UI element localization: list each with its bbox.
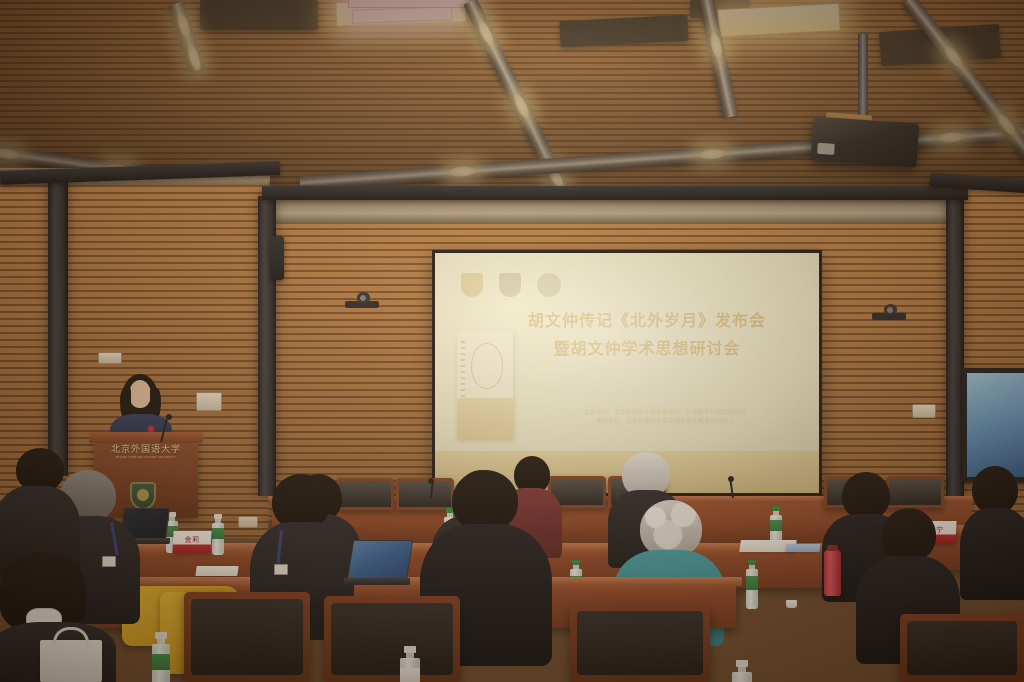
water-bottle[interactable] bbox=[732, 660, 752, 682]
wall-outlet-panel[interactable] bbox=[912, 404, 936, 418]
audience-table-front-top bbox=[92, 577, 742, 586]
attendee-torso bbox=[960, 508, 1024, 600]
attendee-hair bbox=[972, 466, 1018, 514]
slide-title-line2: 暨胡文仲学术思想研讨会 bbox=[491, 337, 803, 361]
ceiling-troffer bbox=[348, 0, 470, 8]
wall-outlet-panel[interactable] bbox=[196, 392, 222, 411]
podium-name-cn: 北京外国语大学 bbox=[102, 442, 190, 455]
attendee-hair bbox=[452, 470, 518, 532]
name-placard-left-text: 金莉 bbox=[173, 531, 212, 545]
foreground-chair[interactable] bbox=[184, 592, 310, 682]
white-tote-bag[interactable] bbox=[40, 640, 102, 682]
paper-cup[interactable] bbox=[786, 600, 797, 608]
paper-stack bbox=[195, 566, 238, 576]
wall-speaker bbox=[270, 236, 284, 280]
laptop-center[interactable] bbox=[344, 540, 410, 590]
wall-outlet-panel[interactable] bbox=[98, 352, 122, 364]
slide-logo-row bbox=[461, 273, 561, 297]
slide-subtitle-line2: 承办单位：北京外国语大学中国外语与教育研究中心 bbox=[545, 417, 785, 426]
badge bbox=[274, 564, 288, 575]
attendee-far-right-suit bbox=[960, 466, 1024, 596]
podium-nameplate: 北京外国语大学 BEIJING FOREIGN STUDIES UNIVERSI… bbox=[102, 442, 190, 459]
podium-name-en: BEIJING FOREIGN STUDIES UNIVERSITY bbox=[102, 456, 190, 459]
wall-camera-left bbox=[345, 292, 379, 310]
attendee-hair bbox=[882, 508, 936, 562]
foreground-chair[interactable] bbox=[324, 596, 460, 682]
book-spine-text bbox=[461, 341, 465, 401]
water-bottle[interactable] bbox=[400, 646, 420, 682]
ceiling-projector bbox=[811, 116, 920, 167]
round-logo-icon bbox=[537, 273, 561, 297]
water-bottle[interactable] bbox=[746, 560, 758, 608]
ceiling-beam bbox=[262, 186, 968, 200]
projector-lens bbox=[817, 143, 835, 155]
projector-pole bbox=[858, 34, 868, 120]
wall-soffit bbox=[268, 198, 962, 224]
speaker-head bbox=[129, 380, 151, 408]
shield-logo-icon bbox=[461, 273, 483, 297]
wall-camera-right bbox=[872, 304, 906, 322]
paper-stack bbox=[785, 544, 820, 552]
crest-logo-icon bbox=[499, 273, 521, 297]
slide-subtitle: 主办单位：北京外国语大学英语学院、外语教学与研究出版社 承办单位：北京外国语大学… bbox=[545, 408, 785, 426]
foreground-chair[interactable] bbox=[900, 614, 1024, 682]
slide-title: 胡文仲传记《北外岁月》发布会 暨胡文仲学术思想研讨会 bbox=[491, 309, 803, 361]
water-bottle[interactable] bbox=[152, 632, 170, 682]
structural-column bbox=[48, 176, 68, 476]
red-thermos[interactable] bbox=[824, 550, 841, 596]
ceiling-dark-panel bbox=[200, 0, 318, 30]
water-bottle[interactable] bbox=[212, 514, 224, 554]
slide-title-line1: 胡文仲传记《北外岁月》发布会 bbox=[491, 309, 803, 333]
name-placard-left: 金莉 bbox=[172, 531, 211, 553]
podium-microphone-head bbox=[166, 414, 172, 420]
conference-hall-photo: 胡文仲传记《北外岁月》发布会 暨胡文仲学术思想研讨会 主办单位：北京外国语大学英… bbox=[0, 0, 1024, 682]
table-microphone-head bbox=[728, 476, 734, 482]
foreground-chair[interactable] bbox=[570, 604, 710, 682]
side-monitor bbox=[962, 368, 1024, 482]
slide-subtitle-line1: 主办单位：北京外国语大学英语学院、外语教学与研究出版社 bbox=[545, 408, 785, 417]
